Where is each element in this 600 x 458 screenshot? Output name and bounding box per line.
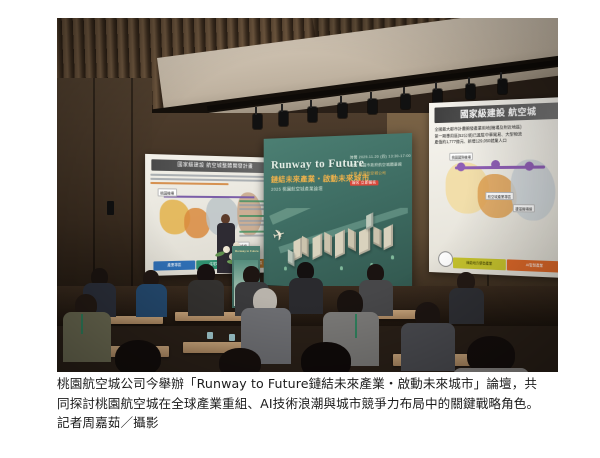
spotlight-icon [253, 114, 262, 129]
left-slide-body [150, 174, 277, 189]
banner-cta-pill: 報名 立即報名 [350, 180, 378, 186]
article-photo-block: 國家級建設 航空城整體開發計畫 桃園機場 捷運綠線 [0, 0, 600, 458]
caption-line-1: 桃園航空城公司今舉辦「Runway to Future鏈結未來產業・啟動未來城市… [57, 374, 559, 394]
map-note: 桃園機場 [158, 188, 177, 196]
photo-caption: 桃園航空城公司今舉辦「Runway to Future鏈結未來產業・啟動未來城市… [57, 374, 559, 433]
caption-line-3: 記者周嘉茹／攝影 [57, 413, 559, 433]
map-note: 桃園國際機場 [449, 152, 473, 160]
spotlight-icon [338, 103, 347, 118]
spotlight-icon [401, 94, 410, 109]
banner-subtitle-secondary: 2025 桃園航空城產業論壇 [271, 186, 323, 193]
news-photograph: 國家級建設 航空城整體開發計畫 桃園機場 捷運綠線 [57, 18, 558, 372]
spotlight-icon [279, 111, 288, 126]
banner-meta-list: 時間 2025.11.20 (四) 13:30-17:00 地點 桃園市政府航空… [350, 154, 406, 189]
spotlight-icon [466, 84, 475, 99]
map-node [457, 162, 465, 171]
airplane-icon: ✈ [270, 224, 288, 246]
map-node [525, 162, 534, 171]
map-note: 捷運機場線 [513, 204, 535, 212]
left-slide-header: 國家級建設 航空城整體開發計畫 [151, 159, 276, 173]
paper-cup [229, 334, 235, 341]
map-note: 航空城產業專區 [485, 192, 513, 200]
wall-switch-panel [107, 201, 114, 215]
spotlight-icon [308, 107, 317, 122]
right-slide-header: 國家級建設 航空城 [435, 102, 558, 123]
right-slide-text: 全國最大都市計畫開發產業用地(機場及附近地區) 第一期專用區(52公頃)已進駐中… [435, 123, 558, 146]
banner-meta-item: 報名 立即報名 [350, 179, 406, 185]
map-rail-line [164, 195, 255, 198]
map-node [491, 160, 500, 169]
caption-line-2: 同探討桃園航空城在全球產業重組、AI技術浪潮與城市競爭力布局中的關鍵戰略角色。 [57, 394, 559, 414]
spotlight-icon [498, 79, 507, 94]
banner-meta-item: 地點 桃園市政府航空城願景館 [350, 162, 406, 168]
banner-meta-item: 時間 2025.11.20 (四) 13:30-17:00 [350, 154, 406, 161]
spotlight-icon [368, 99, 377, 114]
banner-meta-item: 主辦 桃園航空城公司 [350, 171, 406, 177]
paper-cup [207, 332, 213, 339]
audience-area [57, 250, 558, 372]
